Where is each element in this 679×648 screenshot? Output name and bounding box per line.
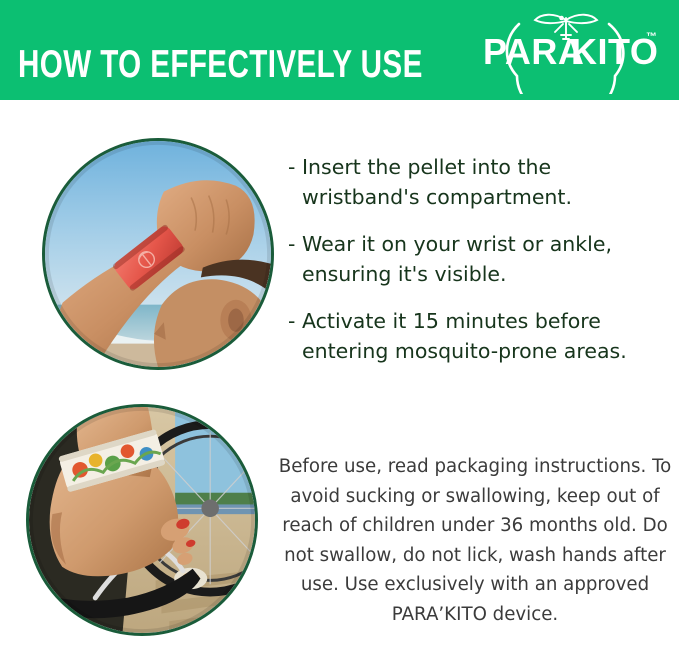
infographic-root: HOW TO EFFECTIVELY USE bbox=[0, 0, 679, 648]
logo-word-kito: KITO bbox=[571, 31, 657, 72]
ankle-band-photo bbox=[26, 404, 258, 636]
header-band: HOW TO EFFECTIVELY USE bbox=[0, 0, 679, 100]
disclaimer-text: Before use, read packaging instructions.… bbox=[276, 452, 674, 629]
ankle-band-photo-image bbox=[29, 407, 255, 633]
step-text: Activate it 15 minutes before entering m… bbox=[302, 306, 670, 366]
para-kito-logo: PARA KITO ™ bbox=[475, 8, 657, 94]
step-item: - Insert the pellet into the wristband's… bbox=[288, 152, 670, 212]
step-item: - Activate it 15 minutes before entering… bbox=[288, 306, 670, 366]
steps-list: - Insert the pellet into the wristband's… bbox=[288, 152, 670, 366]
step-dash: - bbox=[288, 152, 302, 182]
step-dash: - bbox=[288, 229, 302, 259]
wrist-band-photo bbox=[42, 138, 274, 370]
logo-trademark: ™ bbox=[646, 31, 657, 43]
page-title: HOW TO EFFECTIVELY USE bbox=[18, 44, 423, 86]
step-item: - Wear it on your wrist or ankle, ensuri… bbox=[288, 229, 670, 289]
wrist-band-photo-image bbox=[45, 141, 271, 367]
step-text: Insert the pellet into the wristband's c… bbox=[302, 152, 670, 212]
step-dash: - bbox=[288, 306, 302, 336]
body-area: - Insert the pellet into the wristband's… bbox=[0, 100, 679, 648]
step-text: Wear it on your wrist or ankle, ensuring… bbox=[302, 229, 670, 289]
logo-word-para: PARA bbox=[483, 31, 584, 72]
